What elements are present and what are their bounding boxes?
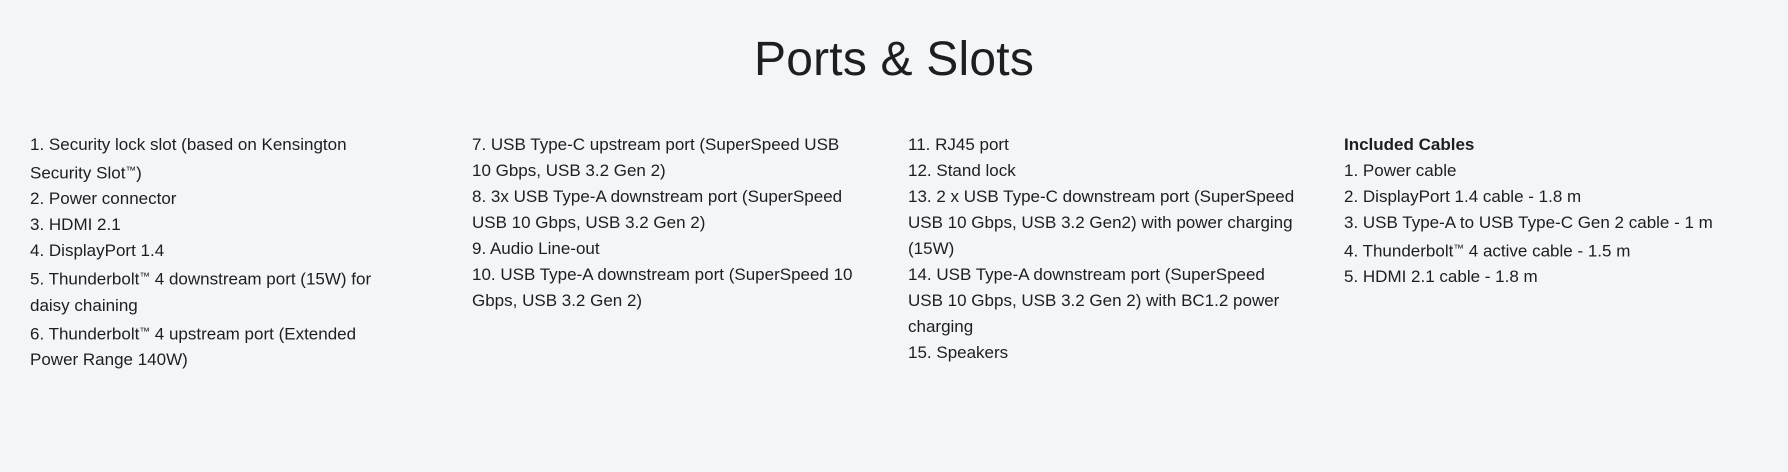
page-title: Ports & Slots <box>0 0 1788 84</box>
included-cables-column: Included Cables 1. Power cable 2. Displa… <box>1326 132 1758 290</box>
trademark-glyph: ™ <box>139 271 150 283</box>
list-item: 8. 3x USB Type-A downstream port (SuperS… <box>472 184 856 236</box>
list-item: 11. RJ45 port <box>908 132 1304 158</box>
list-item: 13. 2 x USB Type-C downstream port (Supe… <box>908 184 1304 262</box>
list-item: 3. HDMI 2.1 <box>30 212 402 238</box>
list-item: 1. Security lock slot (based on Kensingt… <box>30 132 402 186</box>
ports-column-1: 1. Security lock slot (based on Kensingt… <box>30 132 462 373</box>
spec-list-2: 7. USB Type-C upstream port (SuperSpeed … <box>472 132 856 314</box>
list-item: 9. Audio Line-out <box>472 236 856 262</box>
list-item: 5. Thunderbolt™ 4 downstream port (15W) … <box>30 264 402 318</box>
ports-column-2: 7. USB Type-C upstream port (SuperSpeed … <box>462 132 894 314</box>
list-item: 3. USB Type-A to USB Type-C Gen 2 cable … <box>1344 210 1752 236</box>
included-cables-heading: Included Cables <box>1344 132 1752 158</box>
spec-list-3: 11. RJ45 port 12. Stand lock 13. 2 x USB… <box>908 132 1304 366</box>
list-item: 4. Thunderbolt™ 4 active cable - 1.5 m <box>1344 236 1752 264</box>
list-item: 10. USB Type-A downstream port (SuperSpe… <box>472 262 856 314</box>
trademark-glyph: ™ <box>125 165 136 177</box>
trademark-glyph: ™ <box>1453 243 1464 255</box>
list-item: 2. Power connector <box>30 186 402 212</box>
spec-list-1: 1. Security lock slot (based on Kensingt… <box>30 132 402 373</box>
list-item: 5. HDMI 2.1 cable - 1.8 m <box>1344 264 1752 290</box>
list-item: 14. USB Type-A downstream port (SuperSpe… <box>908 262 1304 340</box>
ports-and-slots-page: Ports & Slots 1. Security lock slot (bas… <box>0 0 1788 472</box>
list-item: 2. DisplayPort 1.4 cable - 1.8 m <box>1344 184 1752 210</box>
ports-column-3: 11. RJ45 port 12. Stand lock 13. 2 x USB… <box>894 132 1326 366</box>
list-item: 6. Thunderbolt™ 4 upstream port (Extende… <box>30 319 402 373</box>
list-item: 15. Speakers <box>908 340 1304 366</box>
trademark-glyph: ™ <box>139 326 150 338</box>
list-item: 1. Power cable <box>1344 158 1752 184</box>
spec-list-4: 1. Power cable 2. DisplayPort 1.4 cable … <box>1344 158 1752 290</box>
list-item: 12. Stand lock <box>908 158 1304 184</box>
specs-columns: 1. Security lock slot (based on Kensingt… <box>0 132 1788 373</box>
list-item: 4. DisplayPort 1.4 <box>30 238 402 264</box>
list-item: 7. USB Type-C upstream port (SuperSpeed … <box>472 132 856 184</box>
